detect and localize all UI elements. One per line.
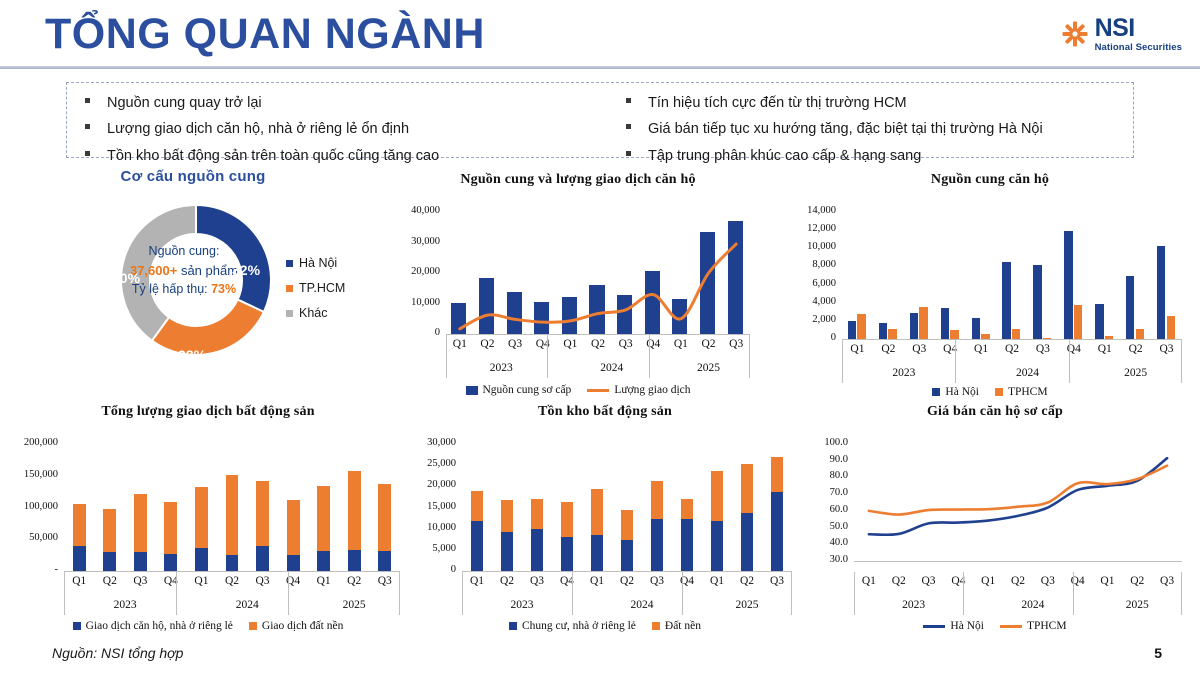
x-axis-tick: Q2 — [884, 575, 914, 587]
bar-segment — [317, 486, 330, 551]
bar-segment — [741, 513, 754, 571]
y-axis-tick: 8,000 — [790, 259, 836, 270]
legend-swatch — [286, 260, 293, 267]
bar-segment — [103, 509, 116, 552]
bar-segment — [378, 551, 391, 571]
x-axis-tick: Q3 — [722, 338, 750, 350]
x-axis-tick: Q1 — [308, 575, 339, 587]
legend-label: Đất nền — [665, 620, 701, 632]
bar — [1095, 304, 1103, 339]
y-axis-tick: 14,000 — [790, 205, 836, 216]
x-axis-tick: Q2 — [217, 575, 248, 587]
list-item: Giá bán tiếp tục xu hướng tăng, đặc biệt… — [626, 118, 1133, 140]
bar-segment — [561, 502, 574, 537]
legend-swatch — [587, 389, 609, 392]
bar-segment — [317, 551, 330, 571]
y-axis-tick: 30,000 — [410, 437, 456, 448]
bar-segment — [681, 519, 694, 571]
x-axis-tick: Q3 — [1033, 575, 1063, 587]
slice-label-khac: 40% — [112, 270, 140, 286]
y-axis-tick: 6,000 — [790, 278, 836, 289]
legend-swatch — [286, 310, 293, 317]
legend-swatch — [286, 285, 293, 292]
highlight-text: Tập trung phân khúc cao cấp & hạng sang — [648, 145, 921, 167]
plot-area: 02,0004,0006,0008,00010,00012,00014,000Q… — [790, 204, 1190, 394]
x-axis-tick: Q4 — [943, 575, 973, 587]
chart-tong-luong-giao-dich: Tổng lượng giao dịch bất động sản -50,00… — [8, 404, 408, 619]
bar-segment — [471, 491, 484, 521]
plot-area: 010,00020,00030,00040,000Q1Q2Q3Q4Q1Q2Q3Q… — [398, 204, 758, 394]
x-axis-tick: Q3 — [1152, 575, 1182, 587]
y-axis-tick: 4,000 — [790, 296, 836, 307]
x-axis-tick: Q1 — [1089, 343, 1120, 355]
chart-title: Nguồn cung và lượng giao dịch căn hộ — [398, 172, 758, 188]
x-axis-tick: Q2 — [732, 575, 762, 587]
legend-label: Lượng giao dịch — [614, 384, 690, 396]
bar-segment — [501, 532, 514, 571]
bar — [941, 308, 949, 339]
bar-segment — [681, 499, 694, 519]
bar-segment — [621, 540, 634, 571]
bar — [972, 318, 980, 339]
x-axis-group-label: 2025 — [1089, 367, 1182, 379]
x-axis-tick: Q3 — [904, 343, 935, 355]
chart-legend: Nguồn cung sơ cấpLượng giao dịch — [398, 384, 758, 396]
y-axis-tick: 50,000 — [8, 532, 58, 543]
bar — [981, 334, 989, 339]
x-axis-tick: Q3 — [762, 575, 792, 587]
bar-segment — [73, 546, 86, 571]
bar-segment — [164, 502, 177, 554]
y-axis-tick: - — [8, 564, 58, 575]
x-axis-tick: Q1 — [582, 575, 612, 587]
source-note: Nguồn: NSI tổng hợp — [52, 645, 183, 661]
bullet-square-icon — [85, 118, 107, 129]
bar-segment — [771, 457, 784, 492]
chart-nguon-cung-va-luong-giao-dich: Nguồn cung và lượng giao dịch căn hộ 010… — [398, 172, 758, 382]
bar — [919, 307, 927, 339]
plot-area: -50,000100,000150,000200,000Q1Q2Q3Q4Q1Q2… — [8, 436, 408, 632]
legend-item: Chung cư, nhà ở riêng lẻ — [509, 620, 636, 632]
bar-segment — [195, 487, 208, 549]
highlight-text: Giá bán tiếp tục xu hướng tăng, đặc biệt… — [648, 118, 1043, 140]
bar — [910, 313, 918, 339]
chart-legend: Hà NộiTPHCM — [800, 620, 1190, 632]
x-axis-tick: Q2 — [1122, 575, 1152, 587]
x-axis-line — [64, 571, 400, 572]
chart-title: Cơ cấu nguồn cung — [78, 168, 308, 185]
bar-segment — [591, 535, 604, 571]
chart-title: Giá bán căn hộ sơ cấp — [800, 404, 1190, 420]
bar-segment — [134, 552, 147, 571]
legend-swatch — [932, 388, 940, 396]
bar-segment — [711, 471, 724, 521]
page-number: 5 — [1154, 645, 1162, 661]
legend-swatch — [1000, 625, 1022, 628]
legend-label: Hà Nội — [950, 620, 984, 632]
legend-label: TPHCM — [1008, 386, 1048, 398]
x-axis-tick: Q2 — [492, 575, 522, 587]
x-axis-tick: Q3 — [369, 575, 400, 587]
donut-legend: Hà Nội TP.HCM Khác — [286, 256, 345, 331]
x-axis-group-label: 2024 — [973, 599, 1092, 611]
legend-label: Hà Nội — [945, 386, 979, 398]
legend-swatch — [509, 622, 517, 630]
x-axis-tick: Q4 — [278, 575, 309, 587]
bar — [1074, 305, 1082, 339]
x-axis-tick: Q1 — [842, 343, 873, 355]
x-axis-group-label: 2023 — [854, 599, 973, 611]
y-axis-tick: 25,000 — [410, 458, 456, 469]
chart-gia-ban-can-ho-so-cap: Giá bán căn hộ sơ cấp 30.040.050.060.070… — [800, 404, 1190, 619]
bullet-square-icon — [626, 118, 648, 129]
legend-swatch — [652, 622, 660, 630]
x-axis-tick: Q1 — [1093, 575, 1123, 587]
chart-legend: Chung cư, nhà ở riêng lẻĐất nền — [410, 620, 800, 632]
legend-item: Hà Nội — [932, 386, 979, 398]
x-axis-tick: Q1 — [966, 343, 997, 355]
logo-name: NSI — [1095, 16, 1182, 41]
bar — [848, 321, 856, 339]
x-axis-group-label: 2024 — [557, 362, 668, 374]
y-axis-tick: 0 — [790, 332, 836, 343]
legend-item: Lượng giao dịch — [587, 384, 690, 396]
bar-segment — [711, 521, 724, 571]
list-item: Tín hiệu tích cực đến từ thị trường HCM — [626, 92, 1133, 114]
bar — [888, 329, 896, 339]
x-axis-tick: Q4 — [1063, 575, 1093, 587]
legend-item: Hà Nội — [923, 620, 984, 632]
y-axis-tick: 100,000 — [8, 501, 58, 512]
highlights-left-column: Nguồn cung quay trở lại Lượng giao dịch … — [67, 92, 600, 157]
bar-segment — [287, 555, 300, 571]
legend-item: TPHCM — [995, 386, 1048, 398]
bar-segment — [651, 481, 664, 519]
bar-segment — [164, 554, 177, 571]
list-item: Tồn kho bất động sản trên toàn quốc cũng… — [85, 145, 600, 167]
highlight-text: Tín hiệu tích cực đến từ thị trường HCM — [648, 92, 907, 114]
bar-segment — [256, 481, 269, 546]
legend-label: Hà Nội — [299, 256, 337, 270]
bar — [1064, 231, 1072, 339]
legend-item-hcm: TP.HCM — [286, 281, 345, 295]
highlight-text: Nguồn cung quay trở lại — [107, 92, 262, 114]
bar-segment — [348, 471, 361, 550]
y-axis-tick: 5,000 — [410, 543, 456, 554]
bar-segment — [73, 504, 86, 546]
x-axis-group-label: 2024 — [966, 367, 1090, 379]
plot-area: 05,00010,00015,00020,00025,00030,000Q1Q2… — [410, 436, 800, 632]
x-axis-line — [842, 339, 1182, 340]
bar-segment — [771, 492, 784, 571]
donut-center-line1: Nguồn cung: — [114, 242, 254, 261]
bullet-square-icon — [85, 145, 107, 156]
x-axis-tick: Q4 — [529, 338, 557, 350]
slide-header: TỔNG QUAN NGÀNH N — [0, 0, 1200, 68]
supply-unit: sản phẩm — [177, 263, 238, 278]
logo-text: NSI National Securities — [1095, 16, 1182, 53]
bar — [1157, 246, 1165, 339]
legend-item: Giao dịch căn hộ, nhà ở riêng lẻ — [73, 620, 233, 632]
bar-segment — [195, 548, 208, 571]
chart-title: Tồn kho bất động sản — [410, 404, 800, 420]
bar-segment — [741, 464, 754, 513]
chart-title: Tổng lượng giao dịch bất động sản — [8, 404, 408, 420]
slice-label-hcm: 28% — [178, 347, 206, 363]
bar — [857, 314, 865, 339]
donut-graphic: Nguồn cung: 37,600+ sản phẩm Tỷ lệ hấp t… — [96, 192, 296, 373]
bullet-square-icon — [626, 145, 648, 156]
list-item: Lượng giao dịch căn hộ, nhà ở riêng lẻ ổ… — [85, 118, 600, 140]
legend-item-khac: Khác — [286, 306, 345, 320]
bar-segment — [471, 521, 484, 571]
x-axis-tick: Q2 — [997, 343, 1028, 355]
bar-segment — [256, 546, 269, 571]
list-item: Nguồn cung quay trở lại — [85, 92, 600, 114]
legend-label: Giao dịch đất nền — [262, 620, 343, 632]
highlights-right-column: Tín hiệu tích cực đến từ thị trường HCM … — [600, 92, 1133, 157]
legend-item: Giao dịch đất nền — [249, 620, 343, 632]
chart-legend: Hà NộiTPHCM — [790, 386, 1190, 398]
chart-co-cau-nguon-cung: Cơ cấu nguồn cung Nguồn cung: 37,600+ sả… — [78, 168, 378, 368]
y-axis-tick: 150,000 — [8, 469, 58, 480]
highlight-text: Lượng giao dịch căn hộ, nhà ở riêng lẻ ổ… — [107, 118, 409, 140]
bar-segment — [591, 489, 604, 535]
x-axis-tick: Q1 — [854, 575, 884, 587]
y-axis-tick: 10,000 — [410, 522, 456, 533]
y-axis-tick: 200,000 — [8, 437, 58, 448]
x-axis-tick: Q1 — [973, 575, 1003, 587]
chart-legend: Giao dịch căn hộ, nhà ở riêng lẻGiao dịc… — [8, 620, 408, 632]
y-axis-tick: 2,000 — [790, 314, 836, 325]
legend-item: Đất nền — [652, 620, 701, 632]
legend-swatch — [995, 388, 1003, 396]
x-axis-group-label: 2025 — [702, 599, 792, 611]
x-axis-tick: Q3 — [1151, 343, 1182, 355]
legend-swatch — [249, 622, 257, 630]
bar-segment — [621, 510, 634, 540]
x-axis-tick: Q2 — [339, 575, 370, 587]
x-axis-group-label: 2023 — [462, 599, 582, 611]
bar-segment — [651, 519, 664, 571]
x-axis-tick: Q2 — [695, 338, 723, 350]
x-axis-tick: Q2 — [584, 338, 612, 350]
x-axis-group-label: 2024 — [582, 599, 702, 611]
header-divider — [0, 66, 1200, 69]
page-title: TỔNG QUAN NGÀNH — [45, 10, 485, 59]
chart-title: Nguồn cung căn hộ — [790, 172, 1190, 188]
bar — [1167, 316, 1175, 339]
x-axis-tick: Q3 — [125, 575, 156, 587]
chart-ton-kho-bat-dong-san: Tồn kho bất động sản 05,00010,00015,0002… — [410, 404, 800, 619]
legend-label: Chung cư, nhà ở riêng lẻ — [522, 620, 636, 632]
x-axis-group-label: 2024 — [186, 599, 308, 611]
slide: TỔNG QUAN NGÀNH N — [0, 0, 1200, 675]
logo-tagline: National Securities — [1095, 43, 1182, 53]
x-axis-tick: Q2 — [95, 575, 126, 587]
bar-segment — [378, 484, 391, 551]
bar — [1002, 262, 1010, 339]
absorption-label: Tỷ lệ hấp thụ: — [132, 282, 211, 296]
bullet-square-icon — [85, 92, 107, 103]
x-axis-tick: Q2 — [474, 338, 502, 350]
x-axis-tick: Q3 — [501, 338, 529, 350]
bar — [1012, 329, 1020, 339]
bar-segment — [103, 552, 116, 571]
legend-item: TPHCM — [1000, 620, 1067, 632]
x-axis-tick: Q3 — [522, 575, 552, 587]
x-axis-tick: Q1 — [667, 338, 695, 350]
x-axis-tick: Q1 — [64, 575, 95, 587]
legend-label: TP.HCM — [299, 281, 345, 295]
x-axis-group-label: 2023 — [64, 599, 186, 611]
x-axis-tick: Q2 — [1003, 575, 1033, 587]
highlights-box: Nguồn cung quay trở lại Lượng giao dịch … — [66, 82, 1134, 158]
highlight-text: Tồn kho bất động sản trên toàn quốc cũng… — [107, 145, 439, 167]
bar — [879, 323, 887, 339]
brand-logo: NSI National Securities — [1062, 16, 1182, 53]
x-axis-tick: Q1 — [446, 338, 474, 350]
x-axis-tick: Q3 — [642, 575, 672, 587]
asterisk-icon — [1062, 21, 1088, 47]
x-axis-tick: Q2 — [1120, 343, 1151, 355]
x-axis-tick: Q3 — [914, 575, 944, 587]
x-axis-tick: Q1 — [557, 338, 585, 350]
x-axis-tick: Q3 — [612, 338, 640, 350]
absorption-value: 73% — [211, 282, 236, 296]
bar-segment — [501, 500, 514, 531]
y-axis-tick: 12,000 — [790, 223, 836, 234]
bar-segment — [226, 555, 239, 571]
x-axis-group-label: 2025 — [667, 362, 750, 374]
bar — [1126, 276, 1134, 340]
legend-item-hanoi: Hà Nội — [286, 256, 345, 270]
bar-segment — [348, 550, 361, 571]
x-axis-tick: Q3 — [247, 575, 278, 587]
x-axis-group-label: 2023 — [446, 362, 557, 374]
slice-label-hanoi: 32% — [232, 262, 260, 278]
plot-area: 30.040.050.060.070.080.090.0100.0Q1Q2Q3Q… — [800, 436, 1190, 632]
x-axis-tick: Q4 — [1058, 343, 1089, 355]
bullet-square-icon — [626, 92, 648, 103]
y-axis-tick: 10,000 — [790, 241, 836, 252]
x-axis-tick: Q2 — [873, 343, 904, 355]
x-axis-tick: Q2 — [612, 575, 642, 587]
bar — [1033, 265, 1041, 339]
bar — [1043, 338, 1051, 339]
legend-label: Giao dịch căn hộ, nhà ở riêng lẻ — [86, 620, 233, 632]
bar-segment — [287, 500, 300, 555]
chart-nguon-cung-can-ho: Nguồn cung căn hộ 02,0004,0006,0008,0001… — [790, 172, 1190, 382]
x-axis-tick: Q4 — [639, 338, 667, 350]
x-axis-group-label: 2025 — [1093, 599, 1182, 611]
legend-label: Nguồn cung sơ cấp — [483, 384, 572, 396]
x-axis-tick: Q4 — [672, 575, 702, 587]
bar-segment — [531, 529, 544, 571]
x-axis-group-label: 2023 — [842, 367, 966, 379]
bar — [1136, 329, 1144, 339]
y-axis-tick: 20,000 — [410, 479, 456, 490]
x-axis-tick: Q1 — [462, 575, 492, 587]
legend-swatch — [466, 386, 478, 395]
legend-label: Khác — [299, 306, 328, 320]
bar — [1105, 336, 1113, 339]
bar — [950, 330, 958, 339]
x-axis-line — [462, 571, 792, 572]
x-axis-tick: Q4 — [156, 575, 187, 587]
bar-segment — [561, 537, 574, 571]
legend-item: Nguồn cung sơ cấp — [466, 384, 572, 396]
x-axis-tick: Q4 — [935, 343, 966, 355]
x-axis-tick: Q1 — [702, 575, 732, 587]
legend-swatch — [73, 622, 81, 630]
legend-label: TPHCM — [1027, 620, 1067, 632]
x-axis-tick: Q3 — [1027, 343, 1058, 355]
bar-segment — [531, 499, 544, 529]
x-axis-tick: Q4 — [552, 575, 582, 587]
bar-segment — [134, 494, 147, 552]
y-axis-tick: 15,000 — [410, 501, 456, 512]
legend-swatch — [923, 625, 945, 628]
x-axis-group-label: 2025 — [308, 599, 400, 611]
list-item: Tập trung phân khúc cao cấp & hạng sang — [626, 145, 1133, 167]
bar-segment — [226, 475, 239, 555]
y-axis-tick: 0 — [410, 564, 456, 575]
x-axis-tick: Q1 — [186, 575, 217, 587]
